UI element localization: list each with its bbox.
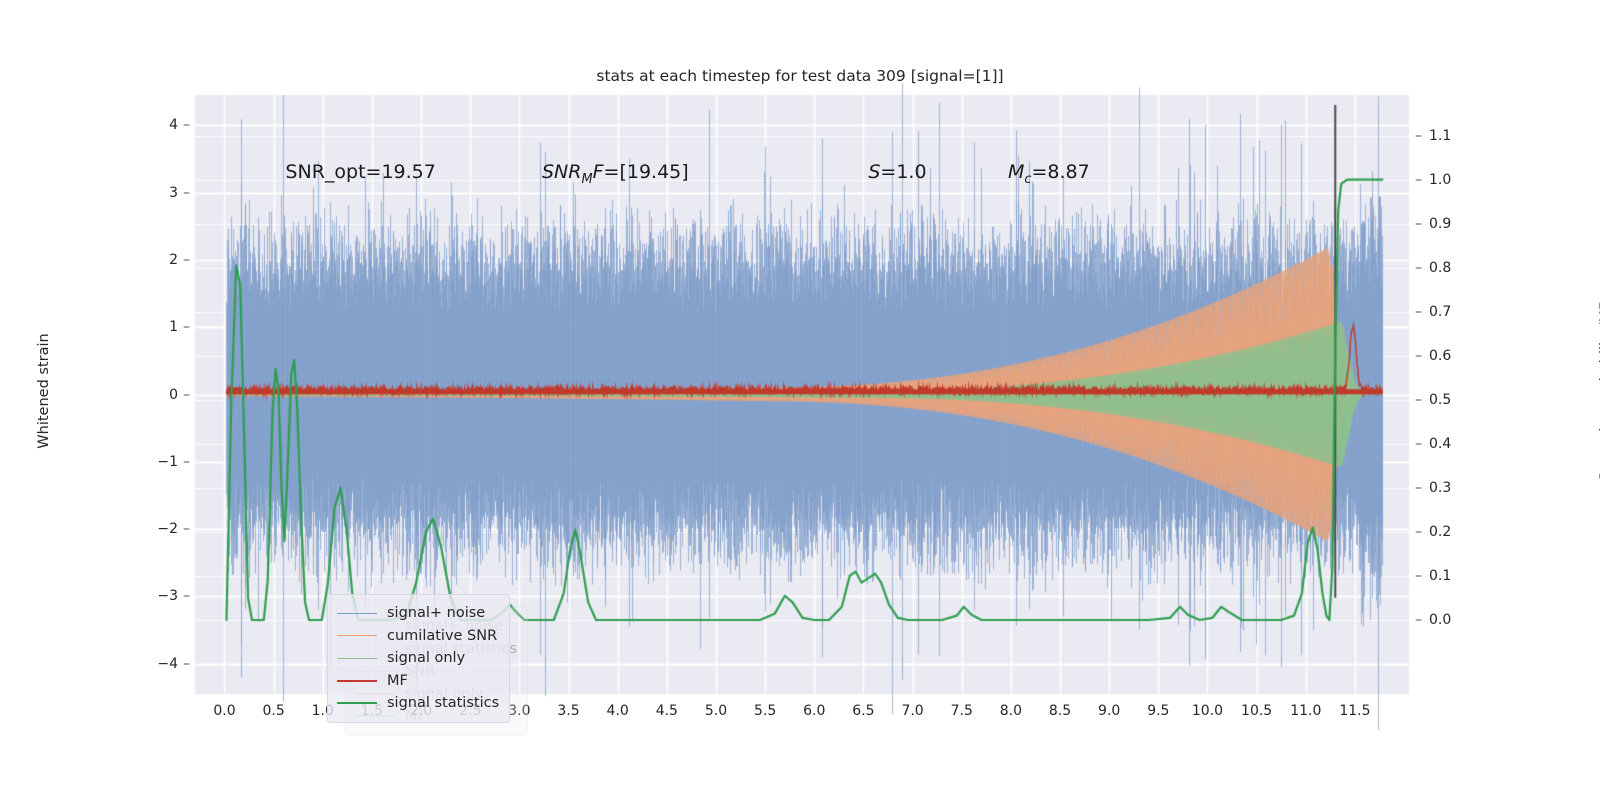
x-tick-label: 11.5	[1339, 703, 1370, 719]
y-tick-mark-right: –	[1415, 172, 1425, 188]
y-tick-mark-right: –	[1415, 436, 1425, 452]
x-tick-label: 11.0	[1290, 703, 1321, 719]
y-tick-label-left: 2	[140, 252, 178, 268]
legend-color-swatch	[337, 635, 377, 636]
y-tick-label-right: 0.1	[1429, 568, 1469, 584]
legend-item-label: cumilative SNR	[387, 628, 497, 644]
y-tick-label-right: 1.1	[1429, 128, 1469, 144]
x-tick-label: 6.5	[852, 703, 874, 719]
legend-item[interactable]: signal+ noise	[337, 602, 499, 625]
y-tick-label-left: 1	[140, 319, 178, 335]
legend-item[interactable]: signal statistics	[337, 692, 499, 715]
legend-item-label: signal+ noise	[387, 605, 485, 621]
legend-item-label: MF	[387, 673, 408, 689]
x-tick-label: 5.5	[754, 703, 776, 719]
y-tick-mark-right: –	[1415, 348, 1425, 364]
annotation-snr-mf: SNRMF=[19.45]	[542, 161, 689, 187]
y-tick-mark-right: –	[1415, 480, 1425, 496]
y-axis-label-left: Whitened strain	[36, 181, 52, 601]
y-tick-label-right: 0.0	[1429, 612, 1469, 628]
y-tick-label-left: −2	[140, 521, 178, 537]
y-tick-mark-right: –	[1415, 392, 1425, 408]
legend-item-label: signal only	[387, 650, 465, 666]
legend-color-swatch	[337, 702, 377, 704]
x-tick-label: 8.5	[1049, 703, 1071, 719]
y-tick-mark-left: –	[180, 387, 190, 403]
legend-item[interactable]: MF	[337, 670, 499, 693]
y-tick-label-left: −3	[140, 588, 178, 604]
plot-canvas	[0, 0, 1600, 800]
y-tick-mark-left: –	[180, 454, 190, 470]
legend-color-swatch	[337, 680, 377, 682]
y-tick-label-right: 0.4	[1429, 436, 1469, 452]
y-tick-label-right: 1.0	[1429, 172, 1469, 188]
y-tick-label-right: 0.2	[1429, 524, 1469, 540]
y-tick-label-right: 0.7	[1429, 304, 1469, 320]
y-tick-label-left: 4	[140, 117, 178, 133]
y-tick-mark-right: –	[1415, 216, 1425, 232]
y-tick-mark-right: –	[1415, 568, 1425, 584]
x-tick-label: 4.5	[656, 703, 678, 719]
annotation-signal-strength: S=1.0	[868, 161, 926, 183]
y-tick-mark-left: –	[180, 185, 190, 201]
legend-color-swatch	[337, 613, 377, 614]
x-tick-label: 5.0	[705, 703, 727, 719]
legend-item-label: signal statistics	[387, 695, 499, 711]
y-tick-mark-right: –	[1415, 612, 1425, 628]
y-tick-label-right: 0.5	[1429, 392, 1469, 408]
x-tick-label: 7.5	[951, 703, 973, 719]
x-tick-label: 9.5	[1147, 703, 1169, 719]
y-tick-mark-right: –	[1415, 524, 1425, 540]
x-tick-label: 0.5	[262, 703, 284, 719]
y-tick-label-right: 0.3	[1429, 480, 1469, 496]
y-tick-mark-left: –	[180, 319, 190, 335]
legend-color-swatch	[337, 658, 377, 659]
y-tick-label-left: −1	[140, 454, 178, 470]
annotation-chirp-mass: Mc=8.87	[1008, 161, 1090, 187]
x-tick-label: 6.0	[803, 703, 825, 719]
y-tick-label-right: 0.8	[1429, 260, 1469, 276]
y-tick-mark-left: –	[180, 117, 190, 133]
x-tick-label: 9.0	[1098, 703, 1120, 719]
x-tick-label: 4.0	[607, 703, 629, 719]
x-tick-label: 0.0	[213, 703, 235, 719]
y-tick-label-right: 0.9	[1429, 216, 1469, 232]
y-tick-mark-left: –	[180, 252, 190, 268]
y-tick-mark-left: –	[180, 521, 190, 537]
x-tick-label: 10.5	[1241, 703, 1272, 719]
annotation-snr-opt: SNR_opt=19.57	[285, 161, 435, 183]
y-tick-label-right: 0.6	[1429, 348, 1469, 364]
y-tick-mark-left: –	[180, 588, 190, 604]
legend-front[interactable]: signal+ noisecumilative SNRsignal onlyMF…	[327, 594, 510, 723]
y-tick-label-left: −4	[140, 656, 178, 672]
x-tick-label: 7.0	[901, 703, 923, 719]
legend-item[interactable]: signal only	[337, 647, 499, 670]
y-tick-label-left: 3	[140, 185, 178, 201]
legend-item[interactable]: cumilative SNR	[337, 625, 499, 648]
chart-title: stats at each timestep for test data 309…	[0, 67, 1600, 85]
y-tick-label-left: 0	[140, 387, 178, 403]
y-tick-mark-right: –	[1415, 304, 1425, 320]
y-tick-mark-left: –	[180, 656, 190, 672]
x-tick-label: 8.0	[1000, 703, 1022, 719]
y-tick-mark-right: –	[1415, 128, 1425, 144]
x-tick-label: 10.0	[1192, 703, 1223, 719]
y-tick-mark-right: –	[1415, 260, 1425, 276]
x-tick-label: 3.5	[557, 703, 579, 719]
figure-canvas-root: stats at each timestep for test data 309…	[0, 0, 1600, 800]
